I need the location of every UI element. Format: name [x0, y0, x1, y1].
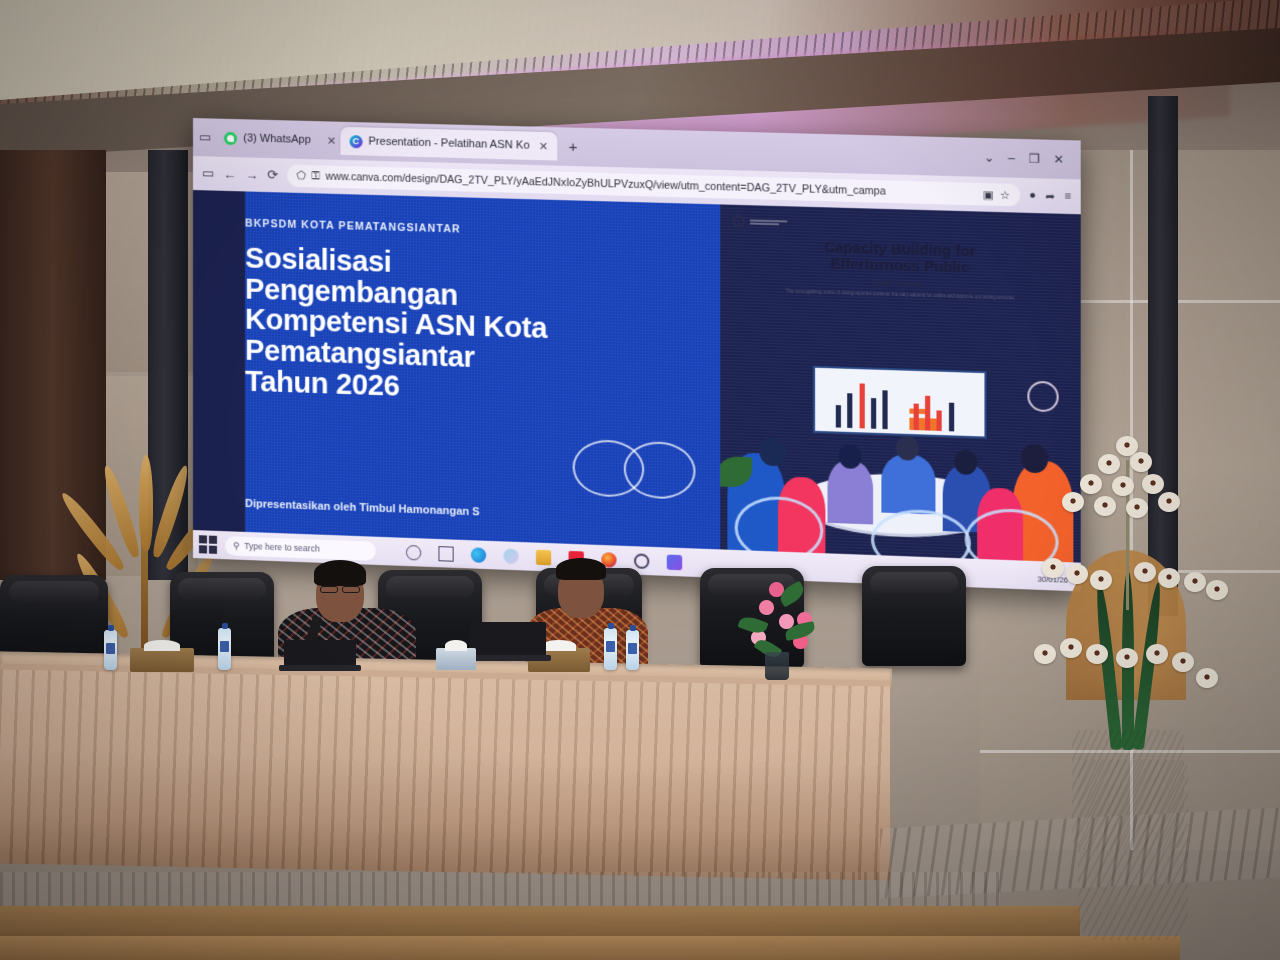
- orchid-bloom: [1134, 562, 1156, 582]
- maximize-button[interactable]: ❐: [1029, 151, 1040, 166]
- back-button[interactable]: ←: [223, 166, 236, 181]
- orchid-bloom: [1062, 492, 1084, 512]
- illustration-person-head: [954, 450, 977, 475]
- illustration-person: [882, 453, 936, 514]
- magnifier-icon: ⚲: [233, 540, 239, 551]
- pink-roses-arrangement: [735, 580, 825, 680]
- slide-right-header: Capacity Building for Efferturnoss Publi…: [720, 204, 1080, 304]
- rose-vase: [765, 652, 789, 680]
- bookmark-star-icon[interactable]: ☆: [1000, 188, 1010, 202]
- capacity-heading: Capacity Building for Efferturnoss Publi…: [733, 237, 1068, 280]
- illustration-person-head: [896, 436, 919, 461]
- conference-hall-photo: ▭ (3) WhatsApp ✕ Presentation - Pelatiha…: [0, 0, 1280, 960]
- orchid-bloom: [1172, 652, 1194, 672]
- forward-button[interactable]: →: [245, 167, 258, 182]
- browser-tab-whatsapp[interactable]: (3) WhatsApp: [215, 124, 320, 155]
- decorative-circle: [624, 441, 696, 500]
- rose: [759, 600, 774, 615]
- close-window-button[interactable]: ✕: [1053, 152, 1064, 167]
- illustration-person-head: [760, 437, 787, 466]
- drinking-glass: [436, 648, 476, 670]
- orchid-bloom: [1184, 572, 1206, 592]
- orchid-bloom: [1112, 476, 1134, 496]
- extensions-icon[interactable]: ➦: [1045, 189, 1055, 203]
- orchid-bloom: [1126, 498, 1148, 518]
- slide-byline: Dipresentasikan oleh Timbul Hamonangan S: [245, 498, 480, 519]
- close-tab-icon[interactable]: ✕: [327, 134, 336, 147]
- slide-title: Sosialisasi Pengembangan Kompetensi ASN …: [245, 243, 720, 413]
- chevron-down-icon[interactable]: ⌄: [984, 150, 995, 165]
- stage-step: [0, 936, 1180, 960]
- tab-list-icon[interactable]: ▭: [199, 129, 211, 145]
- orchid-bloom: [1094, 496, 1116, 516]
- reload-button[interactable]: ⟳: [267, 167, 278, 183]
- water-bottle: [218, 628, 231, 670]
- orchid-bloom: [1098, 454, 1120, 474]
- close-tab-icon[interactable]: ✕: [539, 139, 548, 152]
- slide-kicker: BKPSDM KOTA PEMATANGSIANTAR: [245, 217, 720, 243]
- stage-step: [0, 906, 1080, 936]
- illustration-person: [828, 460, 874, 525]
- orchid-bloom: [1206, 580, 1228, 600]
- minimize-button[interactable]: –: [1008, 151, 1015, 166]
- sidebar-toggle-icon[interactable]: ▭: [202, 165, 214, 181]
- canva-slide: BKPSDM KOTA PEMATANGSIANTAR Sosialisasi …: [193, 190, 1081, 563]
- brand-logo: [733, 215, 1068, 237]
- eyeglasses: [320, 586, 338, 593]
- eyeglasses: [342, 586, 360, 593]
- slide-gutter: [193, 190, 245, 532]
- laptop: [470, 622, 546, 656]
- speaker-left-hair: [314, 560, 366, 586]
- tab-title: (3) WhatsApp: [243, 132, 311, 146]
- orchid-bloom: [1086, 644, 1108, 664]
- orchid-bloom: [1142, 474, 1164, 494]
- orchid-bloom: [1196, 668, 1218, 688]
- lock-icon: ⚿: [312, 170, 320, 183]
- orchid-bloom: [1060, 638, 1082, 658]
- orchid-bloom: [1130, 452, 1152, 472]
- water-bottle: [604, 628, 617, 670]
- laptop: [284, 640, 356, 666]
- reader-mode-icon[interactable]: ▣: [983, 188, 994, 202]
- window-controls: ⌄ – ❐ ✕: [984, 150, 1075, 167]
- orchid-bloom: [1158, 492, 1180, 512]
- url-text: www.canva.com/design/DAG_2TV_PLY/yAaEdJN…: [326, 171, 886, 198]
- tab-title: Presentation - Pelatihan ASN Ko: [368, 136, 529, 152]
- task-view-icon[interactable]: [438, 546, 453, 562]
- canva-icon: [349, 135, 362, 148]
- panel-table-skirt: [0, 663, 890, 880]
- canva-icon[interactable]: [503, 548, 518, 564]
- browser-window: ▭ (3) WhatsApp ✕ Presentation - Pelatiha…: [193, 118, 1081, 591]
- orchid-bloom: [1080, 474, 1102, 494]
- shield-icon: ⬠: [296, 170, 305, 182]
- whatsapp-icon: [224, 131, 237, 144]
- orchid-bloom: [1090, 570, 1112, 590]
- start-icon[interactable]: [199, 535, 217, 554]
- edge-icon[interactable]: [471, 547, 486, 563]
- stage-step: [0, 872, 1000, 906]
- browser-tab-presentation[interactable]: Presentation - Pelatihan ASN Ko ✕: [340, 127, 557, 161]
- account-icon[interactable]: ●: [1029, 189, 1036, 201]
- illustration-person-head: [839, 444, 862, 469]
- water-bottle: [104, 630, 117, 670]
- new-tab-button[interactable]: +: [561, 138, 584, 156]
- brand-mark-icon: [733, 215, 745, 228]
- led-display-screen: ▭ (3) WhatsApp ✕ Presentation - Pelatiha…: [193, 118, 1081, 591]
- water-bottle: [626, 630, 639, 670]
- orchid-bloom: [1066, 564, 1088, 584]
- speaker-right-hair: [556, 558, 606, 580]
- app-icon[interactable]: [667, 554, 682, 570]
- woven-floor-vase: [1078, 760, 1188, 940]
- orchid-bloom: [1116, 648, 1138, 668]
- wall-wood-left: [0, 150, 106, 580]
- wall-clock-illustration: [1028, 381, 1059, 413]
- orchid-bloom: [1034, 644, 1056, 664]
- brand-wordmark: [750, 219, 787, 225]
- presentation-board-illustration: [813, 366, 986, 439]
- orchid-bloom: [1042, 558, 1064, 578]
- orchid-bloom: [1146, 644, 1168, 664]
- browser-menu-icon[interactable]: ≡: [1065, 190, 1072, 202]
- tissue-box: [130, 648, 194, 672]
- slide-left-panel: BKPSDM KOTA PEMATANGSIANTAR Sosialisasi …: [193, 190, 720, 549]
- executive-chair: [862, 566, 966, 666]
- search-placeholder: Type here to search: [244, 541, 319, 554]
- orchid-bloom: [1158, 568, 1180, 588]
